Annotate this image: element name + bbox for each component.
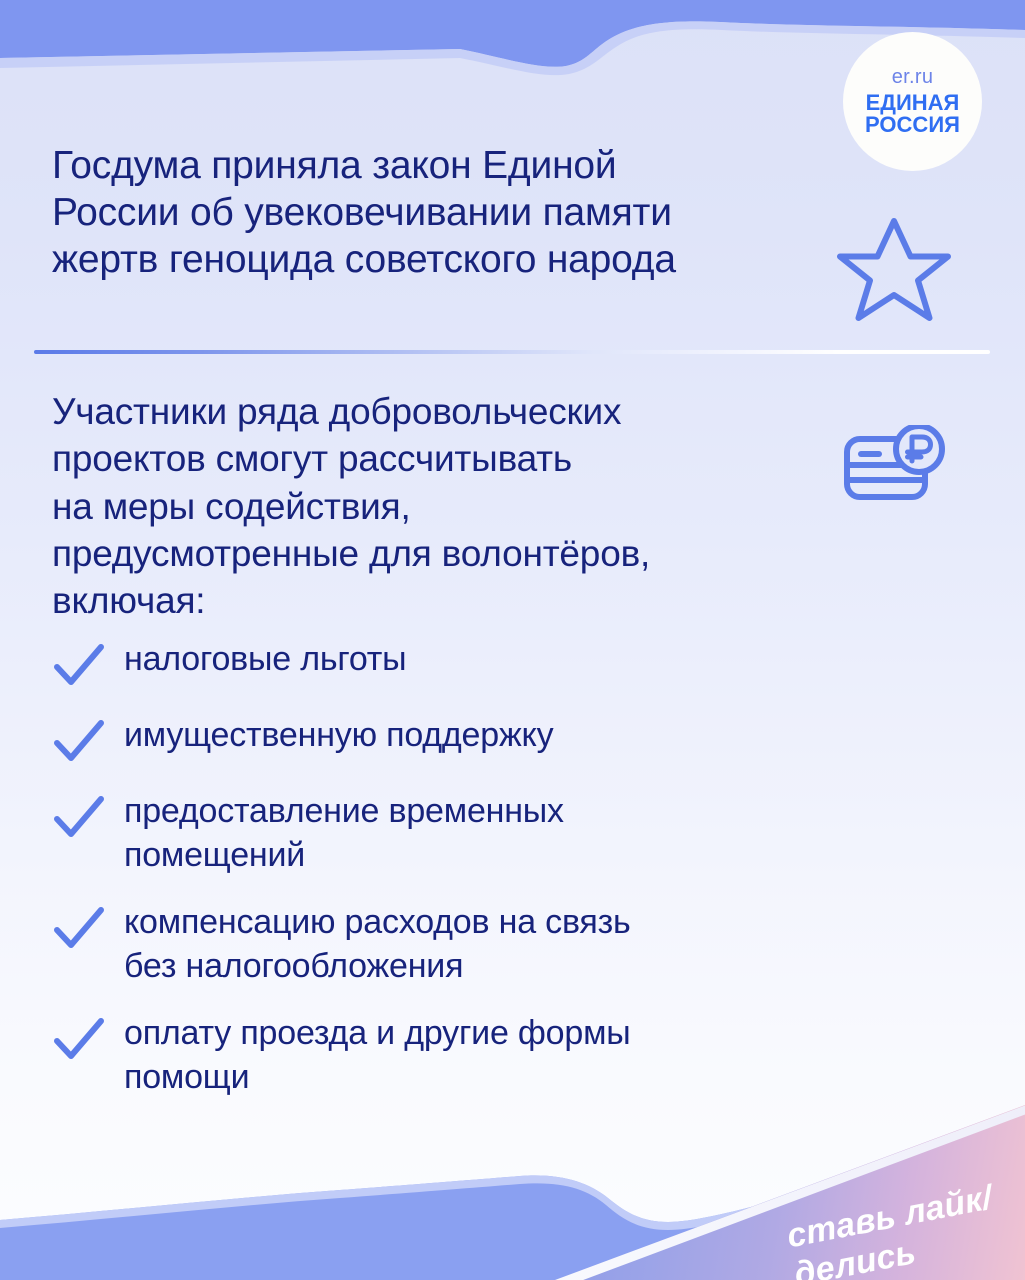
list-item-label: имущественную поддержку [124, 712, 553, 758]
list-item[interactable]: имущественную поддержку [52, 712, 852, 766]
section-divider [34, 350, 990, 354]
list-item[interactable]: компенсацию расходов на связь без налого… [52, 899, 852, 988]
benefits-checklist: налоговые льготы имущественную поддержку… [52, 636, 852, 1099]
logo-line-1: ЕДИНАЯ [866, 92, 960, 114]
star-icon [836, 214, 952, 326]
logo-url-text: er.ru [892, 67, 934, 87]
list-item-label: оплату проезда и другие формы помощи [124, 1010, 631, 1099]
list-item-label: налоговые льготы [124, 636, 406, 682]
er-logo[interactable]: er.ru ЕДИНАЯ РОССИЯ [843, 32, 982, 171]
list-item-label: компенсацию расходов на связь без налого… [124, 899, 631, 988]
check-icon [52, 1016, 106, 1064]
list-item[interactable]: предоставление временных помещений [52, 788, 852, 877]
list-item-label: предоставление временных помещений [124, 788, 564, 877]
check-icon [52, 718, 106, 766]
check-icon [52, 794, 106, 842]
list-item[interactable]: налоговые льготы [52, 636, 852, 690]
lead-paragraph: Участники ряда добровольческих проектов … [52, 388, 812, 625]
check-icon [52, 642, 106, 690]
card-ruble-icon [843, 425, 949, 505]
list-item[interactable]: оплату проезда и другие формы помощи [52, 1010, 852, 1099]
check-icon [52, 905, 106, 953]
poster-canvas: er.ru ЕДИНАЯ РОССИЯ Госдума приняла зако… [0, 0, 1025, 1280]
logo-line-2: РОССИЯ [865, 114, 960, 136]
page-title: Госдума приняла закон Единой России об у… [52, 143, 792, 283]
